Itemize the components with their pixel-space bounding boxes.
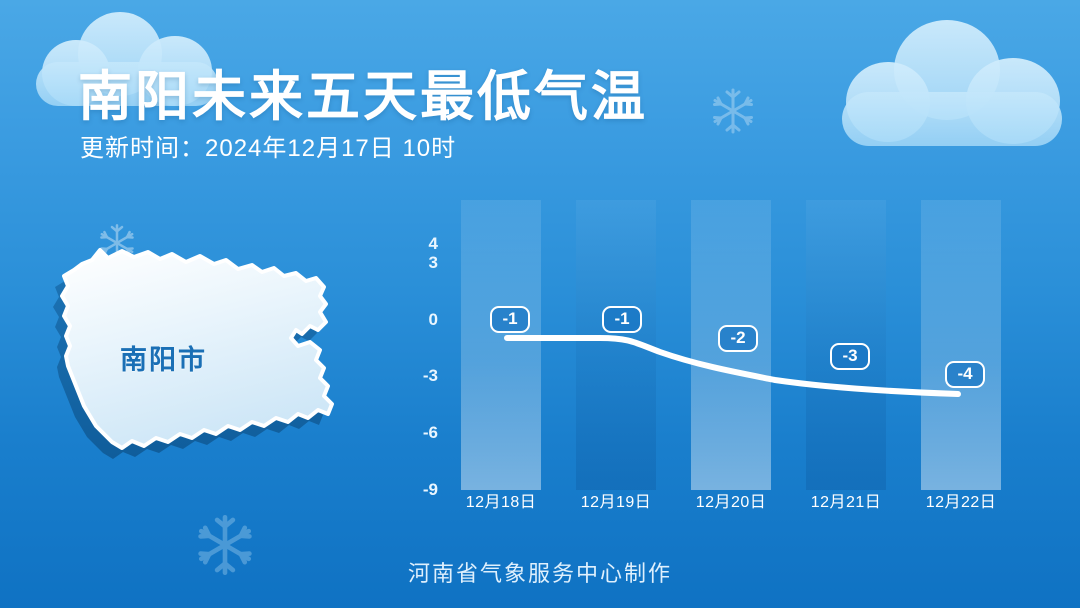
x-axis-label: 12月21日 xyxy=(791,488,901,512)
x-axis-label: 12月19日 xyxy=(561,488,671,512)
y-axis-tick: -9 xyxy=(398,480,438,500)
data-point-label: -1 xyxy=(490,306,530,333)
footer-credit: 河南省气象服务中心制作 xyxy=(0,556,1080,588)
y-axis-tick: -3 xyxy=(398,366,438,386)
data-point-label: -4 xyxy=(945,361,985,388)
y-axis-tick: 3 xyxy=(398,253,438,273)
data-point-label: -2 xyxy=(718,325,758,352)
data-point-label: -3 xyxy=(830,343,870,370)
data-point-label: -1 xyxy=(602,306,642,333)
x-axis-label: 12月20日 xyxy=(676,488,786,512)
x-axis-label: 12月18日 xyxy=(446,488,556,512)
x-axis-label: 12月22日 xyxy=(906,488,1016,512)
chart-column-backdrop xyxy=(921,200,1001,490)
chart-column-backdrop xyxy=(576,200,656,490)
temperature-chart: 4 3 0 -3 -6 -9 -1 -1 -2 -3 -4 12月18日 12月… xyxy=(0,0,1080,608)
y-axis-tick: 0 xyxy=(398,310,438,330)
y-axis-tick: 4 xyxy=(398,234,438,254)
weather-infographic: 南阳未来五天最低气温 更新时间：2024年12月17日 10时 南阳市 xyxy=(0,0,1080,608)
y-axis-tick: -6 xyxy=(398,423,438,443)
chart-column-backdrop xyxy=(461,200,541,490)
